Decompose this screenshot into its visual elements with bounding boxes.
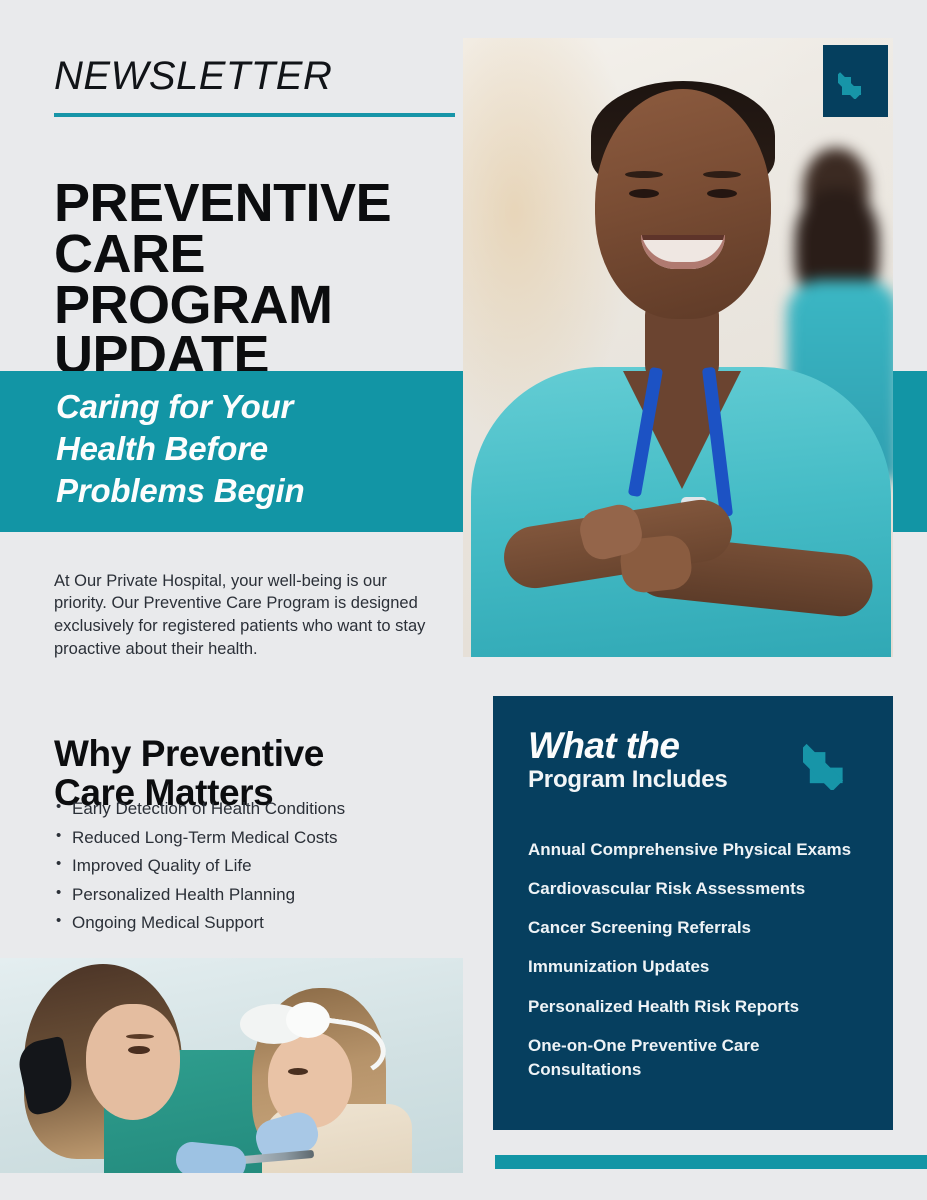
hero-arrow-badge [823,45,888,117]
page-title-line-1: PREVENTIVE [54,178,454,229]
list-item: Improved Quality of Life [54,857,464,874]
eyebrow-label: NEWSLETTER [54,56,332,96]
page-title: PREVENTIVE CARE PROGRAM UPDATE [54,178,454,381]
program-panel-title-big: What the [528,727,798,765]
hero-photo [463,38,893,657]
subtitle-text: Caring for Your Health Before Problems B… [56,386,456,512]
list-item: Personalized Health Planning [54,886,464,903]
program-includes-list: Annual Comprehensive Physical Exams Card… [528,838,858,1097]
bottom-accent-bar [495,1155,927,1169]
why-section-title-line-1: Why Preventive [54,734,464,773]
clinic-photo [0,958,463,1173]
page-title-line-3: PROGRAM [54,280,454,331]
hero-nurse-figure [463,38,893,657]
subtitle-line-1: Caring for Your [56,386,456,428]
list-item: Immunization Updates [528,955,858,979]
list-item: Ongoing Medical Support [54,914,464,931]
why-section-list: Early Detection of Health Conditions Red… [54,800,464,943]
list-item: One-on-One Preventive Care Consultations [528,1034,858,1082]
panel-arrow-down-left-icon [803,728,865,790]
list-item: Annual Comprehensive Physical Exams [528,838,858,862]
list-item: Cardiovascular Risk Assessments [528,877,858,901]
subtitle-line-3: Problems Begin [56,470,456,512]
program-panel-title-small: Program Includes [528,767,798,794]
intro-paragraph: At Our Private Hospital, your well-being… [54,570,432,661]
program-panel-title: What the Program Includes [528,727,798,794]
page-title-line-2: CARE [54,229,454,280]
eyebrow-divider [54,113,455,117]
list-item: Early Detection of Health Conditions [54,800,464,817]
program-panel: What the Program Includes Annual Compreh… [493,696,893,1130]
list-item: Reduced Long-Term Medical Costs [54,829,464,846]
arrow-down-left-icon [838,63,874,99]
subtitle-line-2: Health Before [56,428,456,470]
newsletter-page: NEWSLETTER PREVENTIVE CARE PROGRAM UPDAT… [0,0,927,1200]
subtitle-band-right [893,371,927,532]
list-item: Personalized Health Risk Reports [528,995,858,1019]
list-item: Cancer Screening Referrals [528,916,858,940]
